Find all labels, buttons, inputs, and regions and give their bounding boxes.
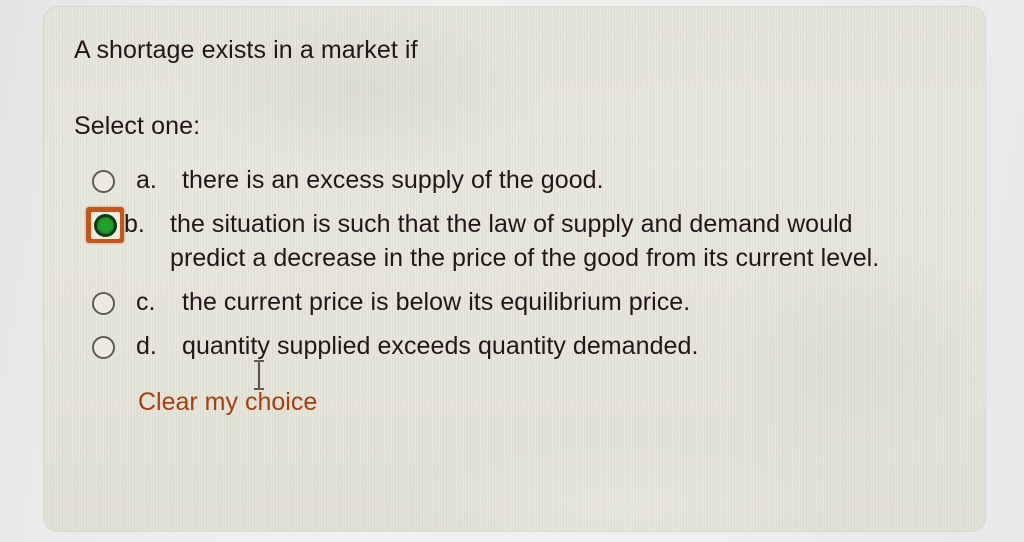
question-stem: A shortage exists in a market if [74,35,951,66]
option-a[interactable]: a. there is an excess supply of the good… [74,163,951,199]
option-letter-d: d. [136,329,182,363]
select-one-instruction: Select one: [74,112,951,141]
radio-wrap-d[interactable] [92,329,136,365]
question-content: A shortage exists in a market if Select … [44,7,985,419]
radio-unchecked-icon[interactable] [92,292,115,315]
radio-focus-ring [91,212,120,239]
radio-wrap-c[interactable] [92,285,136,321]
option-letter-c: c. [136,285,182,319]
option-text-c[interactable]: the current price is below its equilibri… [182,285,912,319]
screenshot-viewport: A shortage exists in a market if Select … [0,0,1024,542]
answer-options-list: a. there is an excess supply of the good… [74,163,951,365]
option-b[interactable]: b. the situation is such that the law of… [74,207,951,275]
option-letter-b: b. [124,207,170,241]
option-d[interactable]: d. quantity supplied exceeds quantity de… [74,329,951,365]
option-text-a[interactable]: there is an excess supply of the good. [182,163,912,197]
clear-my-choice-link[interactable]: Clear my choice [138,385,317,419]
option-letter-a: a. [136,163,182,197]
option-text-b[interactable]: the situation is such that the law of su… [170,207,900,275]
option-text-d[interactable]: quantity supplied exceeds quantity deman… [182,329,912,363]
radio-unchecked-icon[interactable] [92,336,115,359]
radio-unchecked-icon[interactable] [92,170,115,193]
radio-checked-icon[interactable] [94,214,117,237]
radio-wrap-b[interactable] [86,207,124,243]
radio-wrap-a[interactable] [92,163,136,199]
clear-choice-row: Clear my choice [74,385,951,419]
quiz-question-card: A shortage exists in a market if Select … [44,7,985,531]
option-c[interactable]: c. the current price is below its equili… [74,285,951,321]
